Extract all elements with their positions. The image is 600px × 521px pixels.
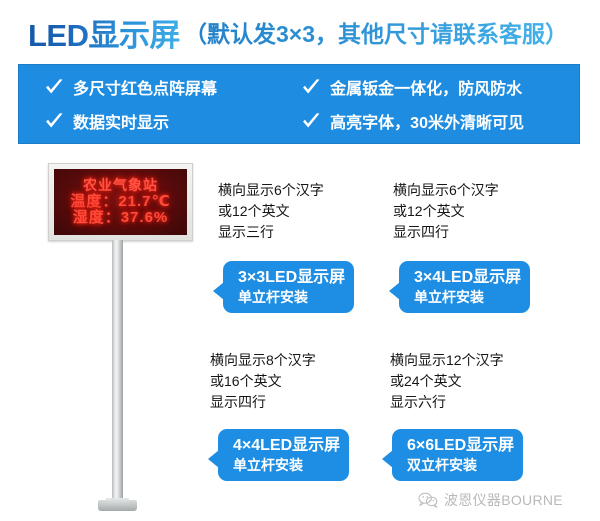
callout-3x3[interactable]: 3×3LED显示屏 单立杆安装 <box>223 261 354 313</box>
page-title: LED显示屏 （默认发3×3，其他尺寸请联系客服） <box>0 8 600 56</box>
led-screen-line-humidity: 湿度：37.6% <box>73 210 169 226</box>
callout-subtitle: 双立杆安装 <box>407 456 511 475</box>
feature-label: 金属钣金一体化，防风防水 <box>330 75 522 99</box>
callout-title: 3×3LED显示屏 <box>238 268 342 288</box>
spec-text-3x3: 横向显示6个汉字 或12个英文 显示三行 <box>218 180 324 243</box>
spec-line: 横向显示6个汉字 <box>218 180 324 201</box>
spec-line: 横向显示6个汉字 <box>393 180 499 201</box>
page-title-note: （默认发3×3，其他尺寸请联系客服） <box>184 15 568 49</box>
spec-line: 显示四行 <box>393 222 499 243</box>
spec-line: 横向显示8个汉字 <box>210 350 316 371</box>
spec-line: 或12个英文 <box>393 201 499 222</box>
callout-3x4[interactable]: 3×4LED显示屏 单立杆安装 <box>399 261 530 313</box>
spec-line: 横向显示12个汉字 <box>390 350 504 371</box>
spec-line: 显示六行 <box>390 392 504 413</box>
spec-text-6x6: 横向显示12个汉字 或24个英文 显示六行 <box>390 350 504 413</box>
callout-6x6[interactable]: 6×6LED显示屏 双立杆安装 <box>392 429 523 481</box>
led-screen-line-station: 农业气象站 <box>83 178 158 193</box>
wechat-icon <box>418 492 438 508</box>
callout-subtitle: 单立杆安装 <box>233 456 337 475</box>
callout-title: 3×4LED显示屏 <box>414 268 518 288</box>
feature-banner: 多尺寸红色点阵屏幕 金属钣金一体化，防风防水 数据实时显示 高亮字体，30米外清… <box>18 64 580 144</box>
check-icon <box>43 110 65 132</box>
feature-item: 多尺寸红色点阵屏幕 <box>43 75 300 99</box>
feature-item: 数据实时显示 <box>43 109 300 133</box>
check-icon <box>300 76 322 98</box>
led-screen: 农业气象站 温度：21.7℃ 湿度：37.6% <box>54 169 187 235</box>
spec-line: 显示三行 <box>218 222 324 243</box>
spec-line: 或24个英文 <box>390 371 504 392</box>
feature-label: 多尺寸红色点阵屏幕 <box>73 75 217 99</box>
spec-text-3x4: 横向显示6个汉字 或12个英文 显示四行 <box>393 180 499 243</box>
led-screen-line-temperature: 温度：21.7℃ <box>70 194 170 210</box>
page-title-main: LED显示屏 <box>28 10 180 55</box>
spec-line: 或16个英文 <box>210 371 316 392</box>
led-panel-frame: 农业气象站 温度：21.7℃ 湿度：37.6% <box>48 163 193 241</box>
feature-row: 多尺寸红色点阵屏幕 金属钣金一体化，防风防水 <box>43 70 575 104</box>
mounting-pole <box>112 240 123 502</box>
spec-line: 显示四行 <box>210 392 316 413</box>
callout-subtitle: 单立杆安装 <box>414 288 518 307</box>
callout-4x4[interactable]: 4×4LED显示屏 单立杆安装 <box>218 429 349 481</box>
pole-base-collar <box>106 498 129 505</box>
feature-item: 高亮字体，30米外清晰可见 <box>300 109 575 133</box>
check-icon <box>300 110 322 132</box>
watermark: 波恩仪器BOURNE <box>418 490 563 510</box>
feature-row: 数据实时显示 高亮字体，30米外清晰可见 <box>43 104 575 138</box>
check-icon <box>43 76 65 98</box>
callout-subtitle: 单立杆安装 <box>238 288 342 307</box>
watermark-label: 波恩仪器BOURNE <box>444 490 563 510</box>
spec-line: 或12个英文 <box>218 201 324 222</box>
led-display-assembly: 农业气象站 温度：21.7℃ 湿度：37.6% <box>40 160 205 515</box>
spec-text-4x4: 横向显示8个汉字 或16个英文 显示四行 <box>210 350 316 413</box>
callout-title: 6×6LED显示屏 <box>407 436 511 456</box>
feature-label: 数据实时显示 <box>73 109 169 133</box>
feature-label: 高亮字体，30米外清晰可见 <box>330 109 524 133</box>
feature-item: 金属钣金一体化，防风防水 <box>300 75 575 99</box>
callout-title: 4×4LED显示屏 <box>233 436 337 456</box>
